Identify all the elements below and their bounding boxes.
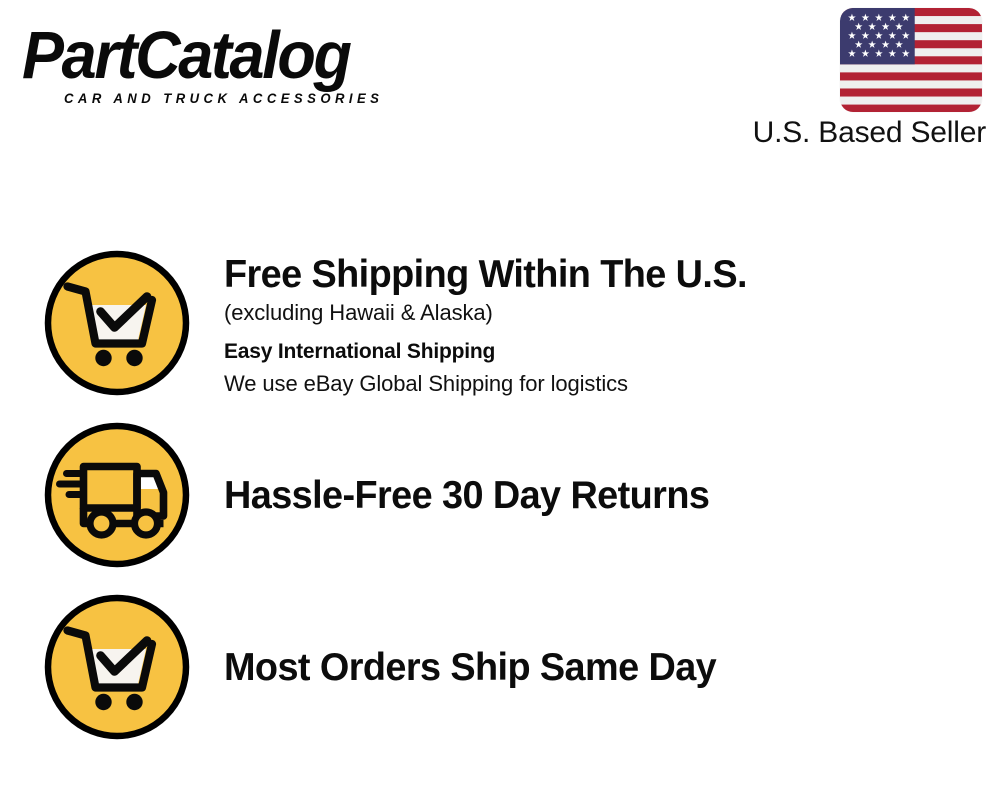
shopping-cart-check-icon xyxy=(42,592,192,742)
feature-row-same-day-shipping: Most Orders Ship Same Day xyxy=(0,592,1000,742)
brand-tagline: CAR AND TRUCK ACCESSORIES xyxy=(64,91,479,106)
brand-logo[interactable]: PartCatalog CAR AND TRUCK ACCESSORIES xyxy=(22,22,492,106)
feature-secondary-heading: Easy International Shipping xyxy=(224,336,1000,368)
feature-row-returns: Hassle-Free 30 Day Returns xyxy=(0,420,1000,570)
feature-text-same-day: Most Orders Ship Same Day xyxy=(224,592,1000,742)
us-flag-icon xyxy=(840,8,982,112)
delivery-truck-icon xyxy=(42,420,192,570)
page-header: PartCatalog CAR AND TRUCK ACCESSORIES xyxy=(0,0,1000,165)
feature-headline: Free Shipping Within The U.S. xyxy=(224,252,977,297)
feature-text-returns: Hassle-Free 30 Day Returns xyxy=(224,420,1000,570)
brand-wordmark: PartCatalog xyxy=(22,22,464,90)
us-based-seller-label: U.S. Based Seller xyxy=(726,116,986,150)
feature-secondary-subline: We use eBay Global Shipping for logistic… xyxy=(224,368,1000,399)
shopping-cart-check-icon xyxy=(42,248,192,398)
feature-headline: Hassle-Free 30 Day Returns xyxy=(224,473,709,518)
feature-text-free-shipping: Free Shipping Within The U.S. (excluding… xyxy=(224,248,1000,399)
us-based-seller-badge: U.S. Based Seller xyxy=(726,8,986,150)
feature-row-free-shipping: Free Shipping Within The U.S. (excluding… xyxy=(0,248,1000,399)
feature-subline: (excluding Hawaii & Alaska) xyxy=(224,297,1000,328)
feature-headline: Most Orders Ship Same Day xyxy=(224,645,716,690)
